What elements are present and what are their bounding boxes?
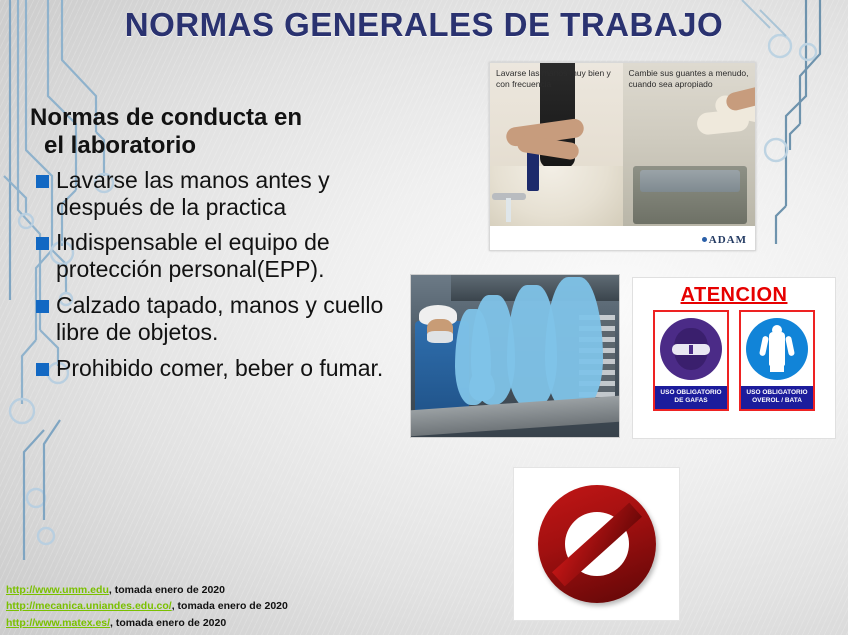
list-item: Calzado tapado, manos y cuello libre de …	[30, 292, 400, 346]
handwash-caption-left: Lavarse las manos muy bien y con frecuen…	[496, 68, 617, 89]
source-link[interactable]: http://www.matex.es/	[6, 617, 110, 629]
goggles-shape	[672, 344, 710, 355]
ppe-card-labcoat-label: USO OBLIGATORIO OVEROL / BATA	[741, 386, 813, 409]
list-item: Lavarse las manos antes y después de la …	[30, 167, 400, 221]
source-link[interactable]: http://mecanica.uniandes.edu.co/	[6, 600, 172, 612]
adam-watermark: ADAM	[702, 234, 747, 246]
handwash-right-panel: Cambie sus guantes a menudo, cuando sea …	[623, 63, 756, 226]
ppe-label-line1: USO OBLIGATORIO	[742, 389, 812, 397]
source-note: , tomada enero de 2020	[172, 600, 288, 612]
arm-shape	[759, 336, 769, 357]
ppe-card-row: USO OBLIGATORIO DE GAFAS USO OBLIGATORIO	[633, 310, 835, 411]
bullet-square-icon	[36, 237, 49, 250]
glove-in-hand	[469, 371, 495, 401]
adam-watermark-label: ADAM	[709, 234, 747, 246]
legs-shape	[770, 364, 784, 372]
goggles-icon	[655, 312, 727, 386]
source-row: http://mecanica.uniandes.edu.co/, tomada…	[6, 598, 288, 614]
no-entry-icon	[538, 485, 656, 603]
source-note: , tomada enero de 2020	[110, 617, 226, 629]
source-row: http://www.umm.edu, tomada enero de 2020	[6, 582, 288, 598]
prohibition-sign-image	[513, 467, 680, 621]
list-item-label: Lavarse las manos antes y después de la …	[56, 167, 330, 220]
atencion-sign-image: ATENCION USO OBLIGATORIO DE GAFAS	[632, 277, 836, 439]
list-item-label: Prohibido comer, beber o fumar.	[56, 355, 383, 381]
coat-shape	[769, 332, 785, 366]
ppe-card-goggles-label: USO OBLIGATORIO DE GAFAS	[655, 386, 727, 409]
goggles-icon-circle	[660, 318, 722, 380]
lead-heading-line1: Normas de conducta en	[30, 104, 302, 131]
lead-heading-line2: el laboratorio	[30, 132, 400, 160]
bullet-square-icon	[36, 300, 49, 313]
lead-heading: Normas de conducta en el laboratorio	[30, 104, 400, 161]
source-link[interactable]: http://www.umm.edu	[6, 584, 109, 596]
source-footer: http://www.umm.edu, tomada enero de 2020…	[6, 582, 288, 631]
adam-dot-icon	[702, 237, 707, 242]
ppe-label-line2: OVEROL / BATA	[742, 397, 812, 405]
labcoat-icon-circle	[746, 318, 808, 380]
bullet-square-icon	[36, 363, 49, 376]
slide-canvas: NORMAS GENERALES DE TRABAJO Normas de co…	[0, 0, 848, 635]
labcoat-icon	[741, 312, 813, 386]
glove-shape	[545, 277, 603, 413]
handwash-left-panel: Lavarse las manos muy bien y con frecuen…	[490, 63, 623, 226]
glove-factory-image	[410, 274, 620, 438]
source-row: http://www.matex.es/, tomada enero de 20…	[6, 615, 288, 631]
list-item: Prohibido comer, beber o fumar.	[30, 355, 400, 382]
source-note: , tomada enero de 2020	[109, 584, 225, 596]
ppe-card-goggles: USO OBLIGATORIO DE GAFAS	[653, 310, 729, 411]
ppe-label-line2: DE GAFAS	[656, 397, 726, 405]
list-item: Indispensable el equipo de protección pe…	[30, 229, 400, 283]
bullet-square-icon	[36, 175, 49, 188]
ppe-label-line1: USO OBLIGATORIO	[656, 389, 726, 397]
handwash-caption-right: Cambie sus guantes a menudo, cuando sea …	[629, 68, 750, 89]
ppe-card-labcoat: USO OBLIGATORIO OVEROL / BATA	[739, 310, 815, 411]
page-title: NORMAS GENERALES DE TRABAJO	[0, 6, 848, 44]
bullet-list: Lavarse las manos antes y después de la …	[30, 167, 400, 382]
arm-shape	[785, 336, 795, 357]
atencion-heading: ATENCION	[633, 284, 835, 307]
handwashing-image: Lavarse las manos muy bien y con frecuen…	[489, 62, 756, 251]
worker-mask	[427, 331, 453, 343]
wash-basin-shape	[633, 166, 747, 224]
water-stream	[506, 198, 511, 222]
list-item-label: Calzado tapado, manos y cuello libre de …	[56, 292, 383, 345]
list-item-label: Indispensable el equipo de protección pe…	[56, 229, 330, 282]
content-body: Normas de conducta en el laboratorio Lav…	[30, 104, 400, 391]
